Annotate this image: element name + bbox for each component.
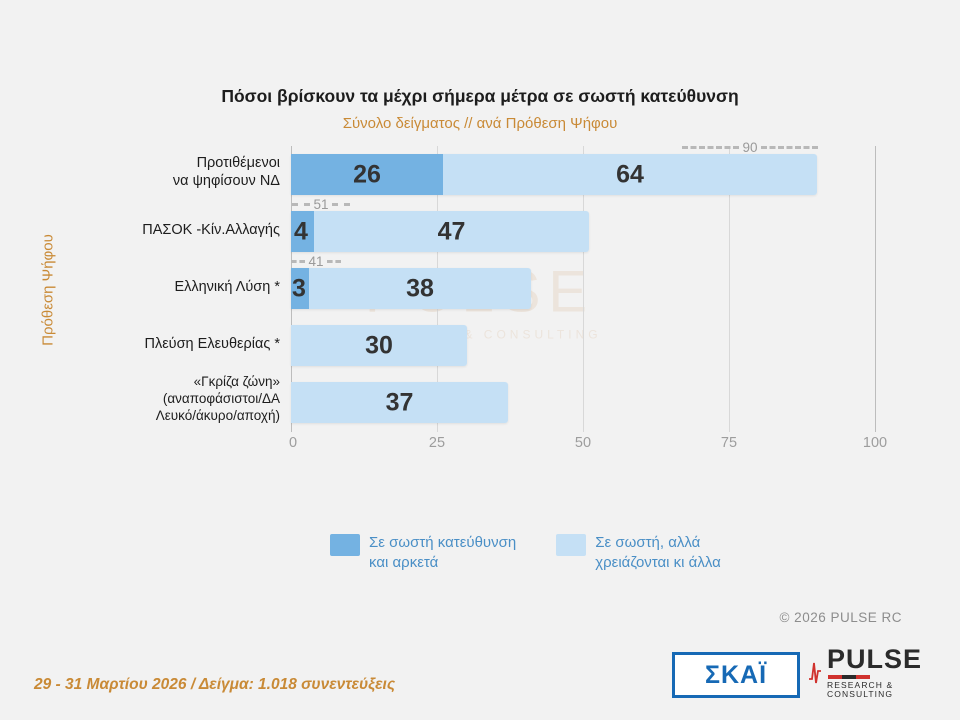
bar-value-nd-a: 26: [353, 160, 381, 189]
total-marker-dash-right: [332, 203, 350, 206]
bar-segment-plefsi-eleftherias-b[interactable]: 30: [291, 325, 467, 366]
bar-segment-elliniki-lysi-a[interactable]: 3: [291, 268, 309, 309]
bar-value-plefsi-eleftherias-b: 30: [365, 331, 393, 360]
total-marker-dash-right: [761, 146, 818, 149]
pulse-logo-bars: [828, 675, 870, 679]
bar-grey-zone[interactable]: 37: [291, 382, 508, 423]
category-label-nd-line2: να ψηφίσουν ΝΔ: [60, 172, 280, 190]
total-marker-dash-left: [292, 203, 310, 206]
heartbeat-icon: [808, 657, 822, 687]
survey-dates-sample: 29 - 31 Μαρτίου 2026 / Δείγμα: 1.018 συν…: [34, 676, 395, 694]
category-label-grey-zone-line2: (αναποφάσιστοι/ΔΑ: [60, 391, 280, 408]
bar-value-elliniki-lysi-a: 3: [292, 274, 306, 303]
x-tick-75: 75: [721, 435, 737, 451]
bar-plefsi-eleftherias[interactable]: 30: [291, 325, 467, 366]
x-tick-100: 100: [863, 435, 887, 451]
chart-title: Πόσοι βρίσκουν τα μέχρι σήμερα μέτρα σε …: [0, 86, 960, 107]
x-tick-50: 50: [575, 435, 591, 451]
legend: Σε σωστή κατεύθυνση και αρκετά Σε σωστή,…: [330, 533, 721, 574]
skai-logo: ΣΚΑΪ: [672, 652, 800, 698]
x-tick-25: 25: [429, 435, 445, 451]
bar-value-grey-zone-b: 37: [386, 388, 414, 417]
copyright-text: © 2026 PULSE RC: [779, 610, 902, 625]
total-value-elliniki-lysi: 41: [308, 254, 323, 269]
bar-value-pasok-a: 4: [294, 217, 308, 246]
total-marker-dash-left: [682, 146, 739, 149]
total-marker-dash-left: [291, 260, 305, 263]
pulse-logo: PULSE RESEARCH & CONSULTING: [808, 650, 948, 694]
legend-swatch-icon-b: [556, 534, 586, 556]
category-label-grey-zone-line3: Λευκό/άκυρο/αποχή): [60, 408, 280, 425]
chart-canvas: PULSE RESEARCH & CONSULTING Πόσοι βρίσκο…: [0, 0, 960, 720]
bar-segment-elliniki-lysi-b[interactable]: 38: [309, 268, 531, 309]
x-tick-0: 0: [289, 435, 297, 451]
bar-segment-nd-a[interactable]: 26: [291, 154, 443, 195]
category-label-elliniki-lysi: Ελληνική Λύση *: [60, 278, 280, 296]
total-marker-elliniki-lysi: 41: [291, 254, 341, 268]
skai-logo-text: ΣΚΑΪ: [705, 661, 767, 690]
pulse-logo-text-block: PULSE RESEARCH & CONSULTING: [827, 646, 948, 698]
category-label-group: Προτιθέμενοι να ψηφίσουν ΝΔ ΠΑΣΟΚ -Κίν.Α…: [60, 146, 286, 432]
category-label-grey-zone: «Γκρίζα ζώνη» (αναποφάσιστοι/ΔΑ Λευκό/άκ…: [60, 374, 280, 425]
category-label-nd: Προτιθέμενοι να ψηφίσουν ΝΔ: [60, 154, 280, 190]
plot-area: 26 64 90 4 47: [291, 146, 876, 432]
bar-value-nd-b: 64: [616, 160, 644, 189]
bar-pasok[interactable]: 4 47: [291, 211, 589, 252]
total-marker-nd: 90: [682, 140, 818, 154]
bar-nd[interactable]: 26 64: [291, 154, 817, 195]
total-value-nd: 90: [742, 140, 757, 155]
category-label-nd-line1: Προτιθέμενοι: [60, 154, 280, 172]
legend-swatch-icon-a: [330, 534, 360, 556]
pulse-logo-sub: RESEARCH & CONSULTING: [827, 681, 948, 698]
bar-segment-pasok-a[interactable]: 4: [291, 211, 314, 252]
y-axis-title: Πρόθεση Ψήφου: [40, 234, 57, 346]
bar-segment-nd-b[interactable]: 64: [443, 154, 817, 195]
bar-elliniki-lysi[interactable]: 3 38: [291, 268, 531, 309]
bar-value-elliniki-lysi-b: 38: [406, 274, 434, 303]
category-label-pasok: ΠΑΣΟΚ -Κίν.Αλλαγής: [60, 221, 280, 239]
category-label-grey-zone-line1: «Γκρίζα ζώνη»: [60, 374, 280, 391]
bar-value-pasok-b: 47: [438, 217, 466, 246]
legend-item-right-direction-more-needed[interactable]: Σε σωστή, αλλά χρειάζονται κι άλλα: [556, 533, 721, 574]
legend-label-a: Σε σωστή κατεύθυνση και αρκετά: [369, 533, 516, 574]
total-marker-dash-right: [327, 260, 341, 263]
legend-item-right-direction-enough[interactable]: Σε σωστή κατεύθυνση και αρκετά: [330, 533, 516, 574]
legend-label-b: Σε σωστή, αλλά χρειάζονται κι άλλα: [595, 533, 721, 574]
x-axis-tick-group: 0 25 50 75 100: [291, 432, 876, 454]
plot-right-border: [875, 146, 876, 432]
bar-segment-pasok-b[interactable]: 47: [314, 211, 589, 252]
category-label-plefsi-eleftherias: Πλεύση Ελευθερίας *: [60, 335, 280, 353]
chart-subtitle: Σύνολο δείγματος // ανά Πρόθεση Ψήφου: [0, 115, 960, 132]
total-value-pasok: 51: [313, 197, 328, 212]
total-marker-pasok: 51: [292, 197, 350, 211]
bar-segment-grey-zone-b[interactable]: 37: [291, 382, 508, 423]
pulse-logo-main: PULSE: [827, 646, 948, 673]
